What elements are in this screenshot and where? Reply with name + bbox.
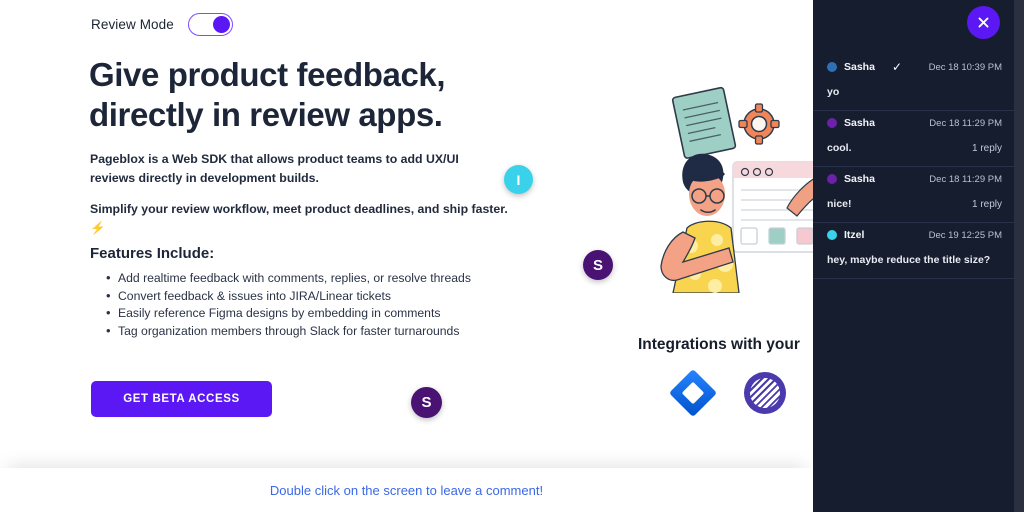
landing-page: Review Mode Give product feedback, direc… <box>0 0 813 512</box>
list-item: Tag organization members through Slack f… <box>106 323 471 341</box>
review-mode-toggle[interactable] <box>188 13 233 36</box>
list-item[interactable]: Sasha ✓ Dec 18 10:39 PM yo <box>813 55 1014 111</box>
get-beta-access-button[interactable]: GET BETA ACCESS <box>91 381 272 417</box>
headline-line-2: directly in review apps. <box>89 96 443 133</box>
comment-timestamp: Dec 19 12:25 PM <box>929 230 1002 241</box>
comment-timestamp: Dec 18 10:39 PM <box>929 62 1002 73</box>
comments-list: Sasha ✓ Dec 18 10:39 PM yo Sasha Dec 18 … <box>813 55 1014 279</box>
comment-header: Itzel Dec 19 12:25 PM <box>827 223 1002 247</box>
integrations-section: Integrations with your <box>600 336 813 416</box>
author-avatar <box>827 230 837 240</box>
headline-line-1: Give product feedback, <box>89 56 445 93</box>
features-list: Add realtime feedback with comments, rep… <box>106 270 471 340</box>
reply-count[interactable]: 1 reply <box>972 199 1002 210</box>
comment-author: Sasha <box>844 173 875 185</box>
close-panel-button[interactable] <box>967 6 1000 39</box>
comment-pin-itzel[interactable]: I <box>504 165 533 194</box>
comment-header: Sasha ✓ Dec 18 10:39 PM <box>827 55 1002 79</box>
review-mode-control: Review Mode <box>91 13 233 36</box>
comment-hint-bar: Double click on the screen to leave a co… <box>0 468 813 512</box>
comment-message: nice! <box>827 198 852 210</box>
comment-author: Itzel <box>844 229 864 241</box>
intro-paragraph: Pageblox is a Web SDK that allows produc… <box>90 150 485 188</box>
reply-count[interactable]: 1 reply <box>972 143 1002 154</box>
list-item[interactable]: Sasha Dec 18 11:29 PM cool. 1 reply <box>813 111 1014 167</box>
hero-illustration <box>625 78 813 293</box>
page-title: Give product feedback, directly in revie… <box>89 55 649 136</box>
features-heading: Features Include: <box>90 245 214 262</box>
comment-timestamp: Dec 18 11:29 PM <box>929 174 1002 185</box>
comment-header: Sasha Dec 18 11:29 PM <box>827 111 1002 135</box>
comment-body: nice! 1 reply <box>827 191 1002 222</box>
comment-body: hey, maybe reduce the title size? <box>827 247 1002 278</box>
panel-scrollbar[interactable] <box>1014 0 1024 512</box>
comment-pin-sasha-2[interactable]: S <box>411 387 442 418</box>
review-mode-label: Review Mode <box>91 17 174 32</box>
list-item[interactable]: Sasha Dec 18 11:29 PM nice! 1 reply <box>813 167 1014 223</box>
comments-panel: Sasha ✓ Dec 18 10:39 PM yo Sasha Dec 18 … <box>813 0 1024 512</box>
jira-logo[interactable] <box>660 360 725 425</box>
comment-body: cool. 1 reply <box>827 135 1002 166</box>
list-item[interactable]: Itzel Dec 19 12:25 PM hey, maybe reduce … <box>813 223 1014 279</box>
comment-message: yo <box>827 86 839 98</box>
comment-timestamp: Dec 18 11:29 PM <box>929 118 1002 129</box>
list-item: Easily reference Figma designs by embedd… <box>106 305 471 323</box>
resolved-check-icon[interactable]: ✓ <box>892 61 902 73</box>
integration-logos <box>670 370 813 416</box>
comment-hint-text[interactable]: Double click on the screen to leave a co… <box>270 483 543 498</box>
comment-message: hey, maybe reduce the title size? <box>827 254 990 266</box>
author-avatar <box>827 62 837 72</box>
comment-author: Sasha <box>844 61 875 73</box>
list-item: Convert feedback & issues into JIRA/Line… <box>106 288 471 306</box>
author-avatar <box>827 174 837 184</box>
tagline-paragraph: Simplify your review workflow, meet prod… <box>90 200 510 238</box>
comment-body: yo <box>827 79 1002 110</box>
list-item: Add realtime feedback with comments, rep… <box>106 270 471 288</box>
comment-message: cool. <box>827 142 852 154</box>
toggle-knob <box>213 16 230 33</box>
author-avatar <box>827 118 837 128</box>
app-root: Review Mode Give product feedback, direc… <box>0 0 1024 512</box>
linear-logo[interactable] <box>742 370 788 416</box>
comment-author: Sasha <box>844 117 875 129</box>
integrations-title: Integrations with your <box>638 336 813 354</box>
comment-header: Sasha Dec 18 11:29 PM <box>827 167 1002 191</box>
comment-pin-sasha-1[interactable]: S <box>583 250 613 280</box>
close-icon <box>977 16 990 29</box>
